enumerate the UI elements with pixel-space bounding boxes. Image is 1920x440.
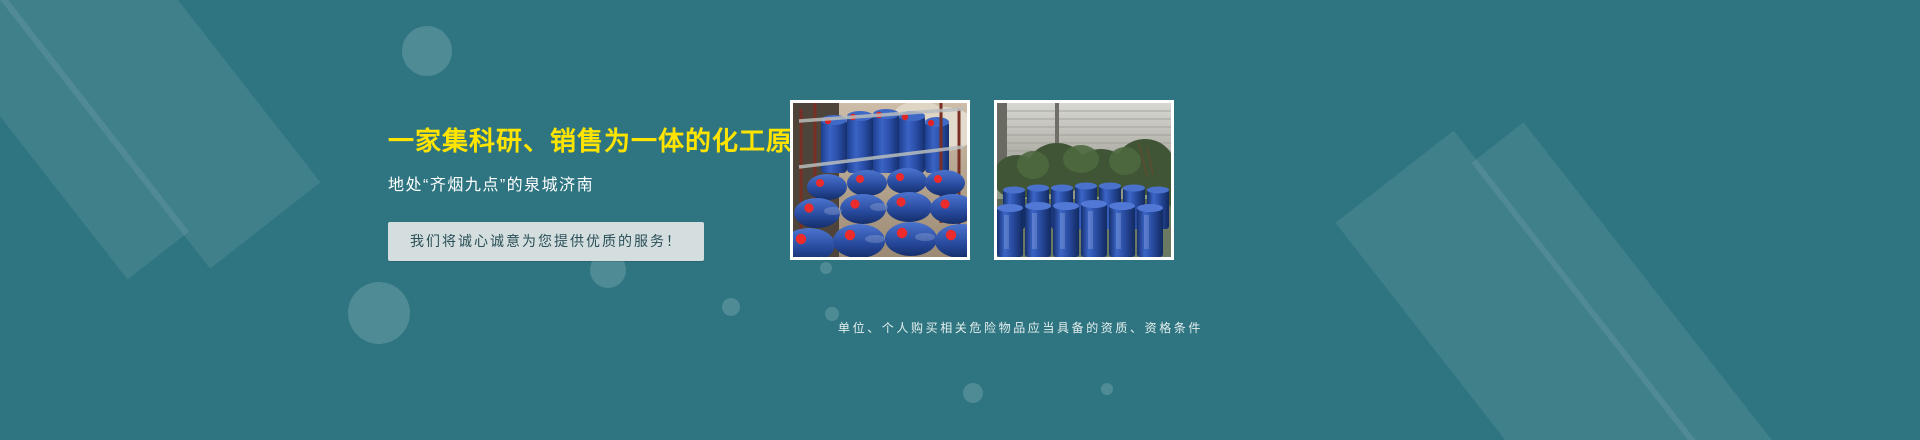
hero-banner: 一家集科研、销售为一体的化工原料公司 地处“齐烟九点”的泉城济南 我们将诚心诚意… [0,0,1920,440]
diagonal-stripe-decoration [1472,122,1795,440]
diagonal-stripe-decoration [1335,130,1724,440]
drums-outdoors-illustration [997,103,1171,257]
circle-decoration [825,307,839,321]
circle-decoration [402,26,452,76]
circle-decoration [1101,383,1113,395]
circle-decoration [348,282,410,344]
blue-drums-outdoors-photo [994,100,1174,260]
circle-decoration [820,262,832,274]
diagonal-stripe-decoration [0,0,320,269]
banner-copy-block: 一家集科研、销售为一体的化工原料公司 地处“齐烟九点”的泉城济南 我们将诚心诚意… [388,124,808,261]
blue-chemical-drums-in-steel-cage-photo [790,100,970,260]
service-promise-button[interactable]: 我们将诚心诚意为您提供优质的服务！ [388,222,704,261]
circle-decoration [722,298,740,316]
circle-decoration [963,383,983,403]
drums-cage-illustration [793,103,967,257]
banner-subheadline: 地处“齐烟九点”的泉城济南 [388,174,808,198]
diagonal-stripe-decoration [0,0,189,279]
banner-headline: 一家集科研、销售为一体的化工原料公司 [388,124,808,158]
safety-notice-caption: 单位、个人购买相关危险物品应当具备的资质、资格条件 [838,319,1203,336]
